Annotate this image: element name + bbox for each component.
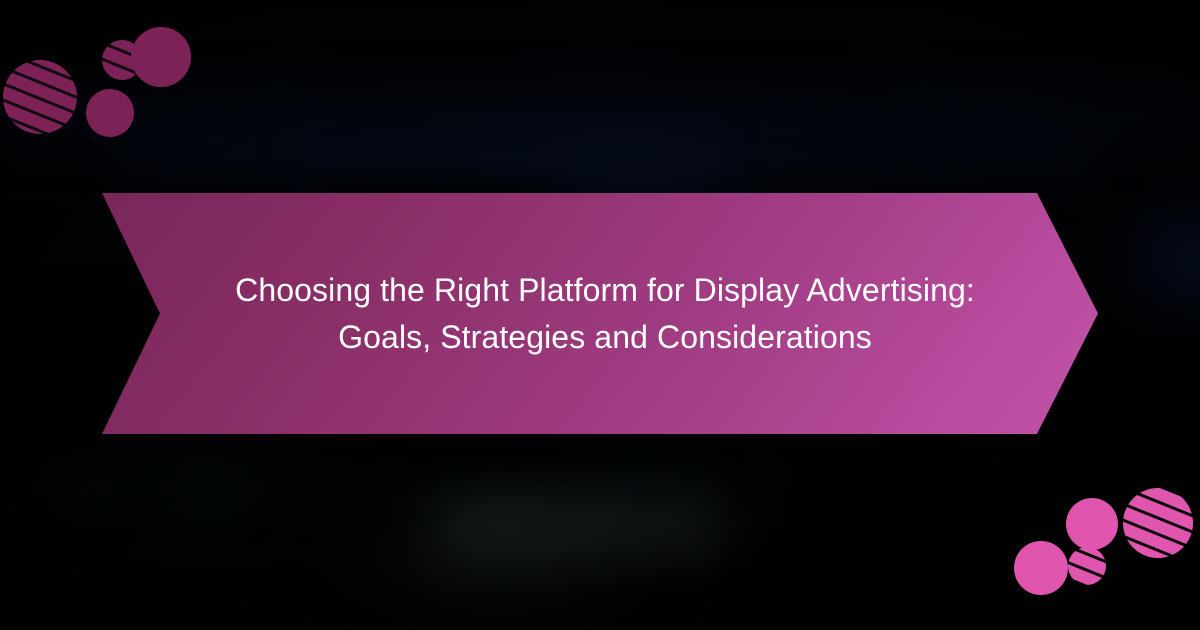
og-image-canvas: Choosing the Right Platform for Display … [0,0,1200,630]
title-banner: Choosing the Right Platform for Display … [102,193,1098,434]
title-banner-inner: Choosing the Right Platform for Display … [195,267,1005,360]
page-title: Choosing the Right Platform for Display … [205,267,1005,360]
